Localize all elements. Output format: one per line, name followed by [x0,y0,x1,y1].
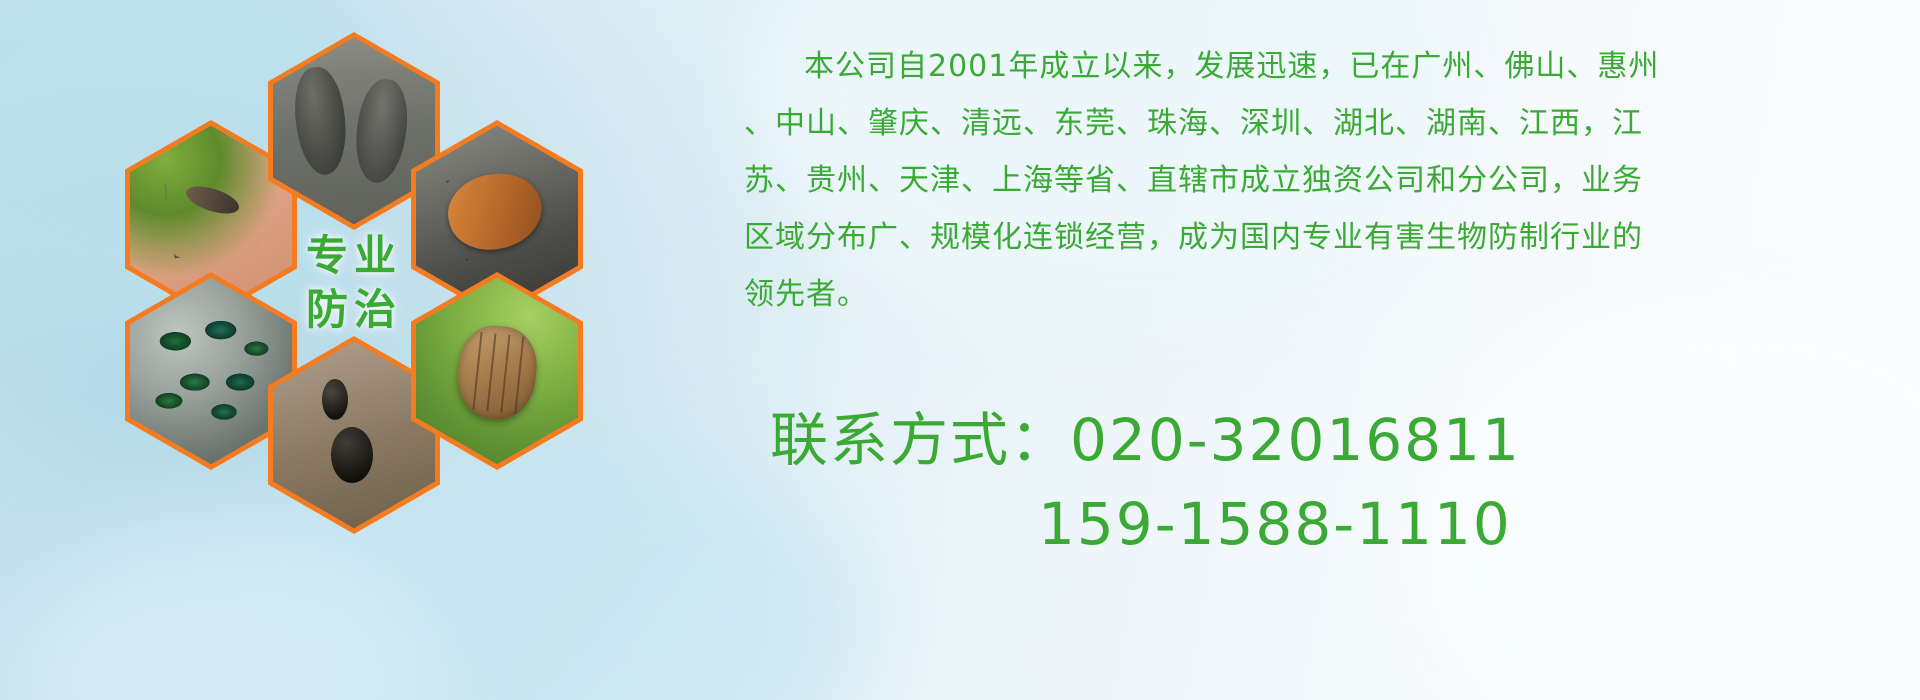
honeycomb-photo-collage: 专业 防治 [90,10,590,570]
headline-line-1: 专业 [306,229,402,283]
contact-primary-line: 联系方式：020-32016811 [770,398,1890,482]
headline-text: 专业 防治 [268,184,440,382]
phone-secondary[interactable]: 159-1588-1110 [1038,490,1512,558]
stink-bug-photo [416,278,578,465]
headline-line-2: 防治 [306,283,402,337]
description-line-2: 、中山、肇庆、清远、东莞、珠海、深圳、湖北、湖南、江西，江 [744,95,1894,152]
hex-cell-headline: 专业 防治 [268,184,440,382]
contact-label: 联系方式： [770,406,1070,474]
company-description: 本公司自2001年成立以来，发展迅速，已在广州、佛山、惠州 、中山、肇庆、清远、… [744,38,1894,323]
phone-primary[interactable]: 020-32016811 [1070,406,1521,474]
description-line-5: 领先者。 [744,266,1894,323]
contact-block: 联系方式：020-32016811 159-1588-1110 [770,398,1890,566]
hex-photo-frame [416,278,578,465]
description-line-4: 区域分布广、规模化连锁经营，成为国内专业有害生物防制行业的 [744,209,1894,266]
promo-banner: 专业 防治 本公司自2001年成立以来，发展迅速，已在广州、佛山、惠州 、中山、… [0,0,1920,700]
contact-secondary-line: 159-1588-1110 [770,482,1890,566]
description-line-1: 本公司自2001年成立以来，发展迅速，已在广州、佛山、惠州 [744,38,1894,95]
description-line-3: 苏、贵州、天津、上海等省、直辖市成立独资公司和分公司，业务 [744,152,1894,209]
